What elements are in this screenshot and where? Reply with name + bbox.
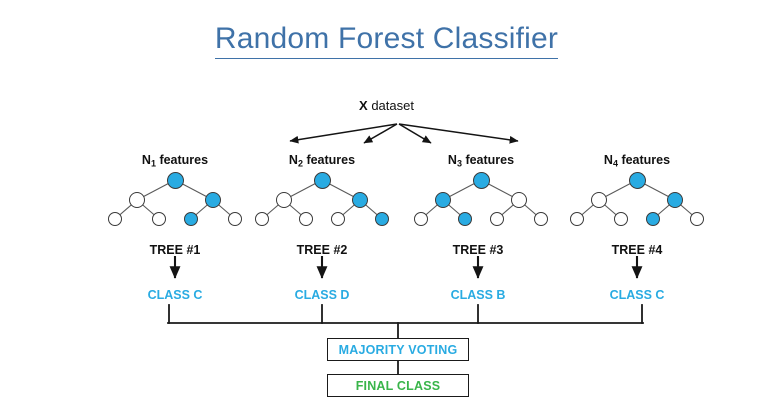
tree-3-node-left	[435, 192, 451, 208]
features-suffix: features	[303, 153, 355, 167]
features-prefix: N	[448, 153, 457, 167]
tree-4-node-right	[667, 192, 683, 208]
dataset-label: X dataset	[0, 98, 773, 113]
tree-4-node-left	[591, 192, 607, 208]
majority-voting-box: MAJORITY VOTING	[327, 338, 469, 361]
tree-1-node-root	[167, 172, 184, 189]
class-label-2: CLASS D	[295, 288, 350, 302]
page-title-wrapper: Random Forest Classifier	[0, 22, 773, 59]
features-label-tree-4: N4 features	[604, 153, 670, 169]
features-label-tree-2: N2 features	[289, 153, 355, 169]
final-class-box: FINAL CLASS	[327, 374, 469, 397]
tree-label-1: TREE #1	[150, 243, 201, 257]
page-title: Random Forest Classifier	[215, 22, 558, 59]
tree-label-4: TREE #4	[612, 243, 663, 257]
tree-2-node-root	[314, 172, 331, 189]
tree-1-node-left	[129, 192, 145, 208]
fanout-arrow-4	[399, 124, 518, 141]
tree-edges	[115, 180, 697, 219]
tree-3-node-right	[511, 192, 527, 208]
dataset-word: dataset	[371, 98, 414, 113]
class-label-4: CLASS C	[610, 288, 665, 302]
features-label-tree-1: N1 features	[142, 153, 208, 169]
tree-3-node-root	[473, 172, 490, 189]
features-prefix: N	[604, 153, 613, 167]
tree-label-2: TREE #2	[297, 243, 348, 257]
class-label-1: CLASS C	[148, 288, 203, 302]
features-prefix: N	[142, 153, 151, 167]
final-class-label: FINAL CLASS	[356, 379, 441, 393]
features-suffix: features	[618, 153, 670, 167]
dataset-fanout-arrows	[290, 124, 518, 143]
tree-4-node-root	[629, 172, 646, 189]
features-suffix: features	[156, 153, 208, 167]
dataset-symbol: X	[359, 98, 368, 113]
tree-to-class-arrows	[175, 256, 637, 278]
features-label-tree-3: N3 features	[448, 153, 514, 169]
diagram-canvas: Random Forest Classifier X dataset N1 fe…	[0, 0, 773, 418]
tree-label-3: TREE #3	[453, 243, 504, 257]
tree-2-node-right	[352, 192, 368, 208]
majority-voting-label: MAJORITY VOTING	[339, 343, 458, 357]
tree-1-node-right	[205, 192, 221, 208]
features-prefix: N	[289, 153, 298, 167]
features-suffix: features	[462, 153, 514, 167]
class-label-3: CLASS B	[451, 288, 506, 302]
tree-2-node-left	[276, 192, 292, 208]
